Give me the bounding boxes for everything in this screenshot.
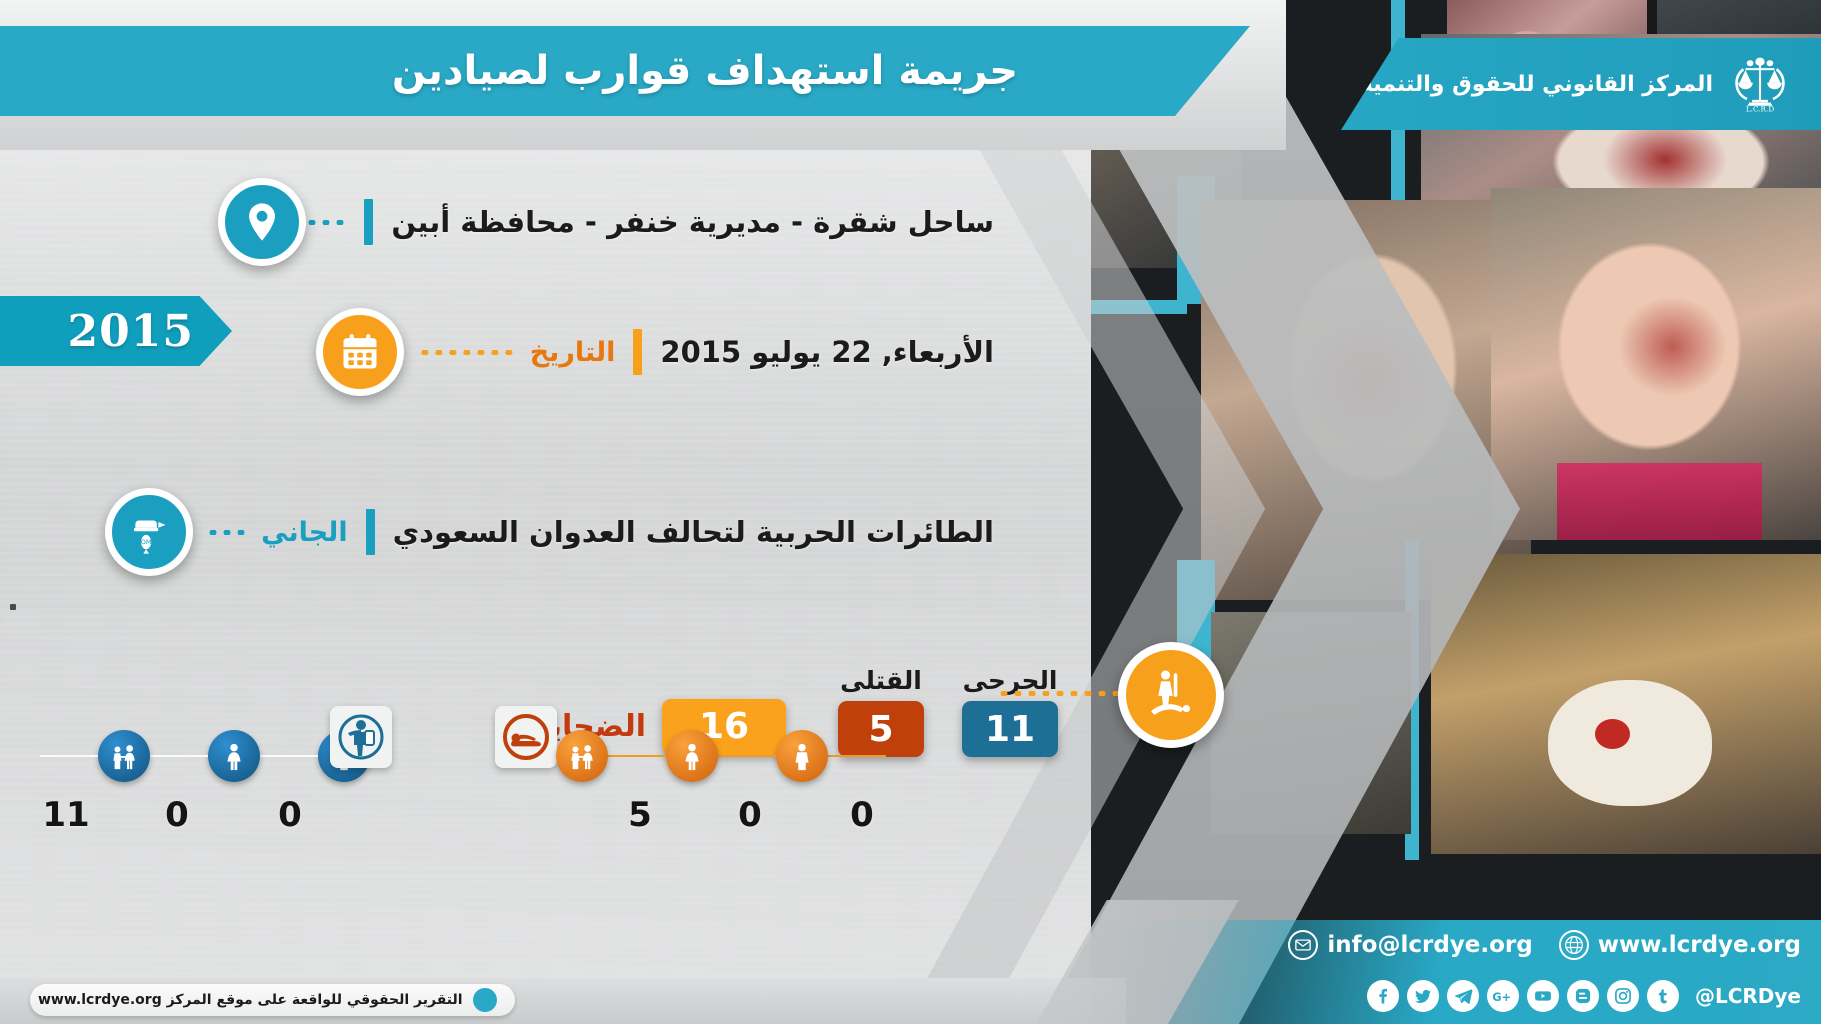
website-text: www.lcrdye.org [1598,932,1801,958]
killed-children-value: 0 [822,795,902,835]
page-title: جريمة استهداف قوارب لصيادين [232,48,1018,94]
contact-block: www.lcrdye.org info@lcrdye.org [1091,920,1821,1024]
injured-connector-1 [260,755,318,757]
corpse-icon [495,706,557,768]
man-icon [776,730,828,782]
bullet-icon [473,988,497,1012]
injured-count: 11 [962,701,1058,757]
date-value: الأربعاء, 22 يوليو 2015 [660,335,994,369]
tumblr-icon[interactable] [1647,980,1679,1012]
report-link-text: التقرير الحقوقي للواقعة على موقع المركز … [38,992,463,1008]
injured-women-value: 0 [137,795,217,835]
date-divider-bar [633,329,642,375]
woman-icon [666,730,718,782]
svg-text:BOMB: BOMB [137,538,156,546]
killed-connector-2 [608,755,666,757]
report-link-pill[interactable]: التقرير الحقوقي للواقعة على موقع المركز … [30,984,515,1016]
injured-men-value: 11 [26,795,106,835]
twitter-icon[interactable] [1407,980,1439,1012]
killed-breakdown-row [556,730,886,782]
infographic-root: جريمة استهداف قوارب لصيادين L.C.R.D المر [0,0,1821,1024]
injured-person-icon [330,706,392,768]
perpetrator-divider-bar [366,509,375,555]
telegram-icon[interactable] [1447,980,1479,1012]
killed-caption: القتلى [840,666,922,695]
perpetrator-dotted-line [207,530,247,535]
website-chip[interactable]: www.lcrdye.org [1559,930,1801,960]
google-plus-icon[interactable]: G+ [1487,980,1519,1012]
location-dotted-line [306,220,346,225]
perpetrator-value: الطائرات الحربية لتحالف العدوان السعودي [393,515,994,549]
calendar-icon [316,308,404,396]
email-chip[interactable]: info@lcrdye.org [1288,930,1532,960]
social-handle: @LCRDye [1695,984,1801,1008]
perpetrator-label: الجاني [261,517,347,548]
killed-women-value: 0 [710,795,790,835]
org-name: المركز القانوني للحقوق والتنمية [1360,72,1713,97]
injured-connector-2 [150,755,208,757]
social-row: G+ @LCRDye [1367,980,1801,1012]
location-value: ساحل شقرة - مديرية خنفر - محافظة أبين [391,205,994,239]
location-divider-bar [364,199,373,245]
contact-row-primary: www.lcrdye.org info@lcrdye.org [1288,930,1801,960]
injured-connector-3 [40,755,98,757]
casualty-care-icon [1118,642,1224,748]
instagram-icon[interactable] [1607,980,1639,1012]
collage-photo-6 [1491,188,1821,540]
decorative-mark [10,604,16,610]
scales-of-justice-laurel-icon: L.C.R.D [1727,51,1793,117]
envelope-icon [1288,930,1318,960]
date-label: التاريخ [530,337,616,368]
org-logo-band: L.C.R.D المركز القانوني للحقوق والتنمية [1341,38,1821,130]
year-value: 2015 [68,306,194,357]
youtube-icon[interactable] [1527,980,1559,1012]
email-text: info@lcrdye.org [1327,932,1532,958]
facebook-icon[interactable] [1367,980,1399,1012]
injured-children-value: 0 [250,795,330,835]
collage-photo-7 [1431,554,1821,854]
children-icon [98,730,150,782]
date-dotted-line [418,350,516,355]
map-pin-icon [218,178,306,266]
globe-icon [1559,930,1589,960]
blogger-icon[interactable] [1567,980,1599,1012]
svg-text:L.C.R.D: L.C.R.D [1746,105,1774,114]
injured-breakdown-row [40,730,370,782]
perpetrator-row: الطائرات الحربية لتحالف العدوان السعودي … [118,488,994,576]
killed-connector-0 [828,755,886,757]
date-row: الأربعاء, 22 يوليو 2015 التاريخ [316,308,994,396]
victims-dotted-line [1000,690,1120,696]
page-title-band: جريمة استهداف قوارب لصيادين [0,26,1250,116]
location-row: ساحل شقرة - مديرية خنفر - محافظة أبين [246,178,994,266]
killed-men-value: 5 [600,795,680,835]
svg-text:G+: G+ [1493,989,1512,1003]
woman-icon [208,730,260,782]
killed-connector-1 [718,755,776,757]
warplane-bomb-icon: BOMB [105,488,193,576]
year-badge: 2015 [0,296,232,366]
children-icon [556,730,608,782]
